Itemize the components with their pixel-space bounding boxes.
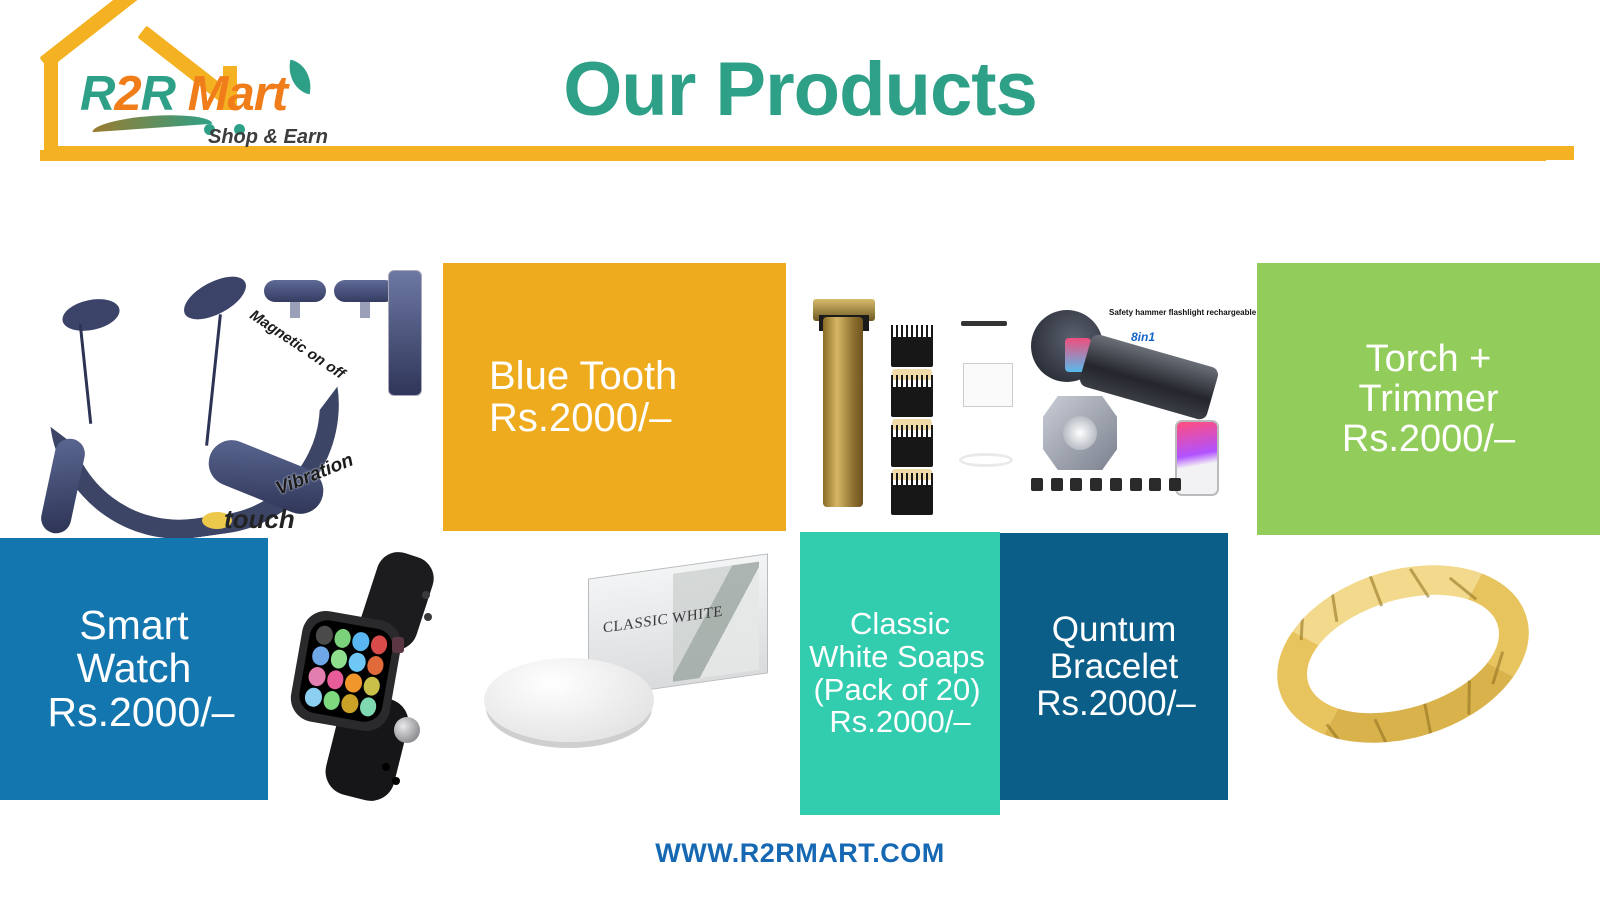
label-touch: touch	[224, 504, 295, 535]
logo-r2: R	[141, 67, 175, 121]
brand-logo: R2R Mart Shop & Earn	[34, 8, 334, 160]
phone-image	[1175, 420, 1219, 496]
product-title-bracelet-line1: Quntum	[1052, 611, 1177, 648]
footer-website-url[interactable]: WWW.R2RMART.COM	[0, 838, 1600, 869]
magnet-icon	[1070, 478, 1082, 491]
magnet-bud-b	[334, 280, 396, 302]
logo-tagline: Shop & Earn	[208, 126, 328, 149]
product-card-smart-watch[interactable]: Smart Watch Rs.2000/–	[0, 538, 268, 800]
torch-icon	[1110, 478, 1122, 491]
strap-hole-4	[392, 777, 400, 785]
logo-r1: R	[80, 67, 114, 121]
header-divider	[40, 150, 1546, 161]
window-breaker-icon	[1090, 478, 1102, 491]
torch-badge-8in1: 8in1	[1131, 330, 1155, 344]
watch-buckle	[394, 717, 420, 743]
product-title-watch-line2: Watch	[77, 647, 192, 690]
battery-icon	[1130, 478, 1142, 491]
bluetooth-neckband-image: Magnetic on off Vibration touch	[6, 258, 436, 538]
product-title-bracelet-line2: Bracelet	[1050, 648, 1178, 685]
smart-watch-image	[272, 545, 487, 800]
header: R2R Mart Shop & Earn Our Products	[0, 0, 1600, 170]
page-title: Our Products	[400, 52, 1200, 128]
torch-lens	[1043, 396, 1117, 470]
product-title-bluetooth: Blue Tooth	[489, 355, 677, 397]
comb-attachment-3	[891, 437, 933, 467]
torch-flashlight-image: Safety hammer flashlight rechargeable tr…	[1025, 292, 1230, 512]
roof-left	[39, 0, 141, 69]
strap-hole-1	[422, 591, 430, 599]
trimmer-body	[823, 317, 863, 507]
magnet-bud-a	[264, 280, 326, 302]
logo-mart: Mart	[188, 67, 287, 121]
product-title-soap-line3: (Pack of 20)	[813, 674, 980, 707]
product-price-bracelet: Rs.2000/–	[1036, 685, 1196, 722]
product-title-soap-line1: Classic	[850, 608, 950, 641]
manual-card	[963, 363, 1013, 407]
product-card-quntum-bracelet[interactable]: Quntum Bracelet Rs.2000/–	[1000, 533, 1228, 800]
magnet-pin-b	[360, 302, 370, 318]
magnet-pin-a	[290, 302, 300, 318]
product-card-classic-white-soaps[interactable]: Classic White Soaps (Pack of 20) Rs.2000…	[800, 532, 1000, 815]
car-icon	[1169, 478, 1181, 491]
logo-2: 2	[114, 67, 140, 121]
watch-crown	[392, 637, 404, 653]
product-price-bluetooth: Rs.2000/–	[489, 397, 671, 439]
comb-attachment-4	[891, 485, 933, 515]
product-title-torch-line2: Trimmer	[1359, 379, 1499, 419]
watch-screen	[296, 617, 395, 724]
product-price-soap: Rs.2000/–	[829, 706, 970, 739]
watch-case	[287, 607, 405, 735]
product-price-torch: Rs.2000/–	[1342, 419, 1515, 459]
product-title-watch-line1: Smart	[79, 604, 188, 647]
product-title-torch-line1: Torch +	[1366, 339, 1492, 379]
earbud-right	[177, 268, 252, 328]
product-price-watch: Rs.2000/–	[48, 691, 235, 734]
cleaning-brush	[961, 321, 1007, 326]
charge-icon	[1149, 478, 1161, 491]
earbud-left	[60, 294, 123, 335]
product-title-soap-line2: White Soaps	[809, 641, 985, 674]
comb-attachment-1	[891, 337, 933, 367]
logo-wordmark: R2R Mart	[80, 66, 287, 122]
bracelet-links	[1255, 536, 1551, 772]
wire-left	[79, 324, 92, 424]
strap-hole-3	[382, 763, 390, 771]
comb-attachment-2	[891, 387, 933, 417]
product-card-bluetooth[interactable]: Blue Tooth Rs.2000/–	[443, 263, 786, 531]
strap-hole-2	[424, 613, 432, 621]
feature-icon-row	[1031, 478, 1181, 504]
neckband-stick	[388, 270, 422, 396]
slide-canvas: R2R Mart Shop & Earn Our Products Magnet…	[0, 0, 1600, 900]
usb-cable	[959, 453, 1013, 467]
trimmer-image	[795, 285, 1030, 520]
soap-bar	[484, 658, 654, 742]
quntum-bracelet-image	[1264, 556, 1544, 756]
hammer-icon	[1031, 478, 1043, 491]
classic-white-soap-image: CLASSIC WHITE	[478, 540, 778, 765]
product-card-torch-trimmer[interactable]: Torch + Trimmer Rs.2000/–	[1257, 263, 1600, 535]
knife-icon	[1051, 478, 1063, 491]
